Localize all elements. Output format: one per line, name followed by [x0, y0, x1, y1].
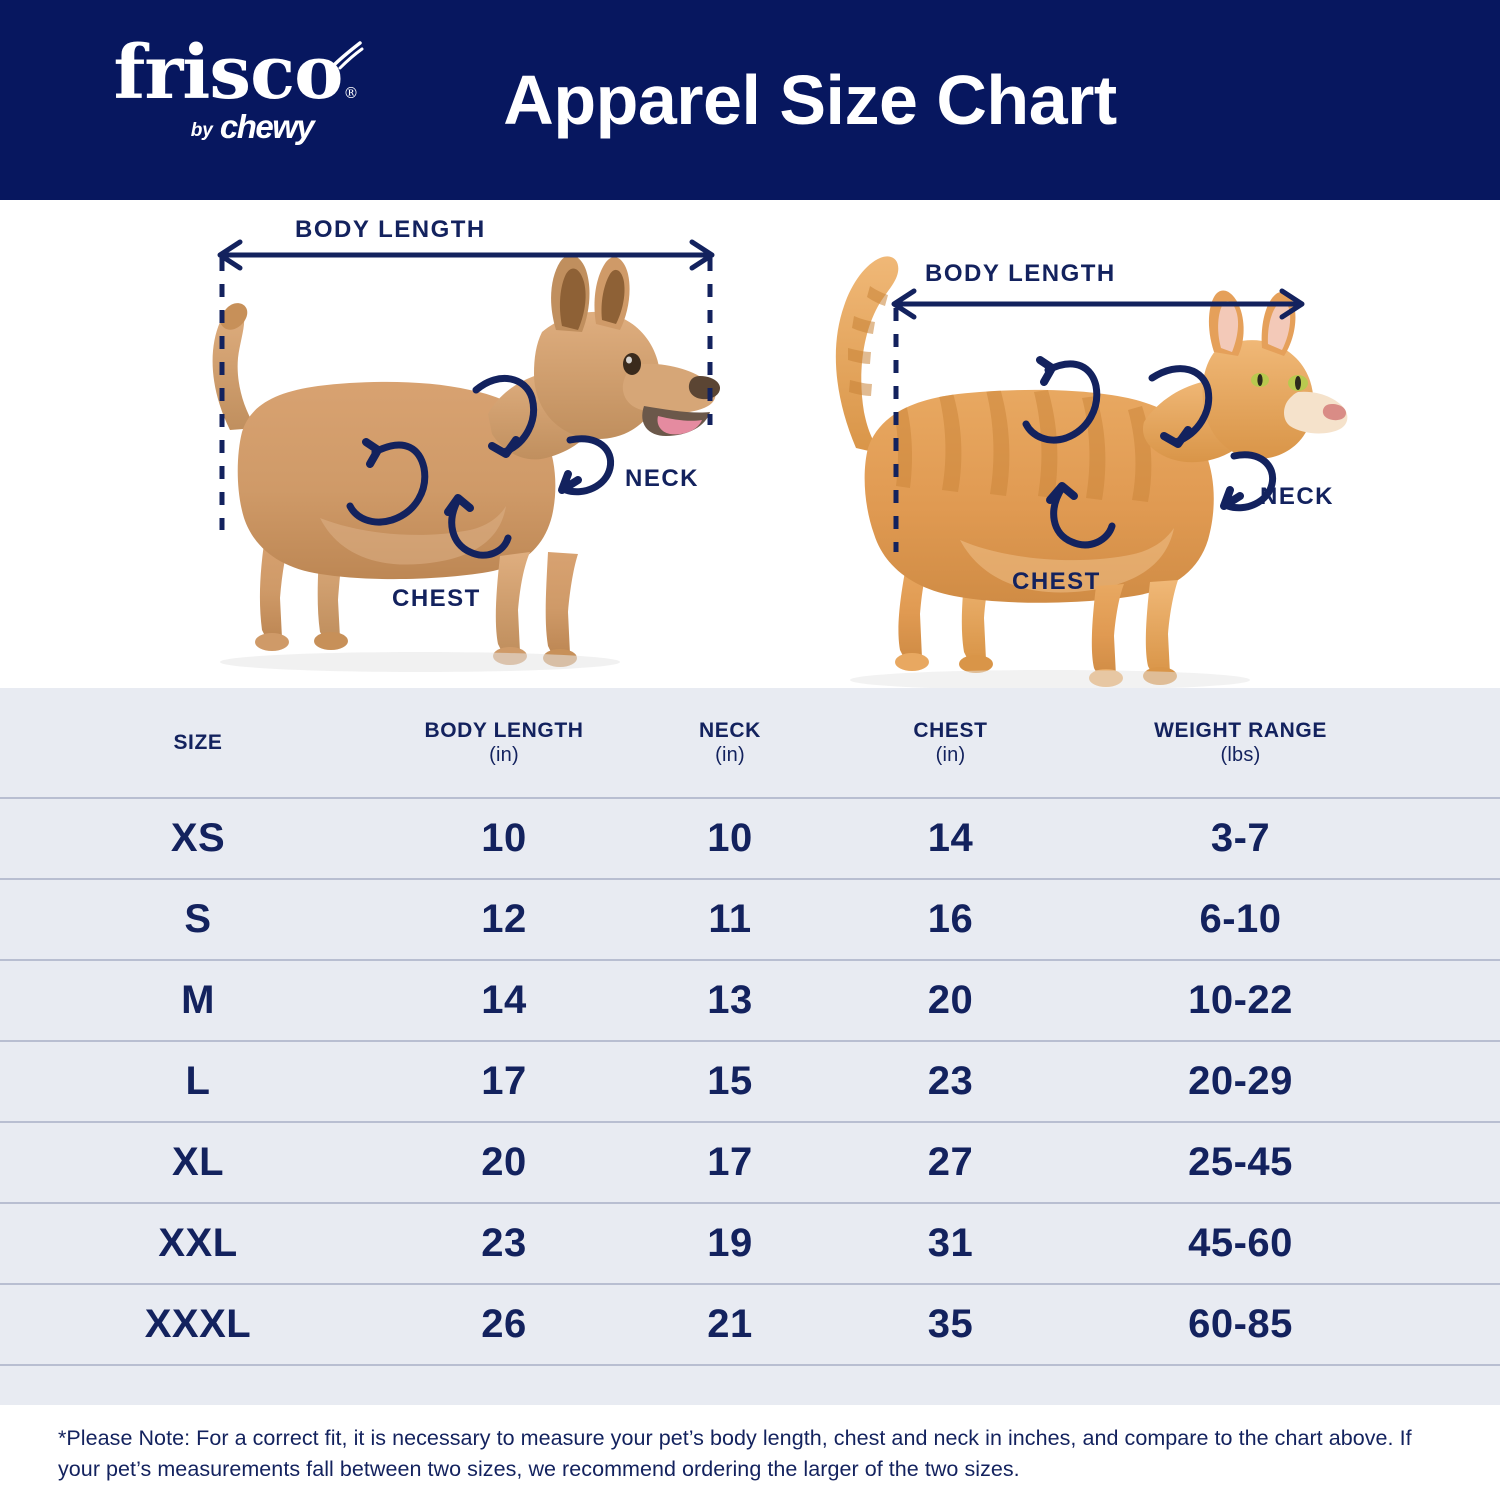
cat-diagram: BODY LENGTH NECK CHEST: [800, 200, 1390, 688]
cell-neck: 17: [610, 1122, 840, 1203]
dog-diagram: BODY LENGTH NECK CHEST: [170, 200, 760, 688]
table-head: SIZE BODY LENGTH (in) NECK (in) CHEST (i…: [0, 688, 1500, 798]
table-header-row: SIZE BODY LENGTH (in) NECK (in) CHEST (i…: [0, 688, 1500, 798]
illustration-band: BODY LENGTH NECK CHEST: [0, 200, 1500, 688]
column-header-neck-label: NECK: [620, 718, 840, 744]
cell-neck: 21: [610, 1284, 840, 1365]
footer-note-section: *Please Note: For a correct fit, it is n…: [0, 1405, 1500, 1500]
column-header-neck-unit: (in): [620, 743, 840, 767]
cell-chest: 31: [840, 1203, 1055, 1284]
cell-chest: 27: [840, 1122, 1055, 1203]
cell-body-length: 20: [380, 1122, 610, 1203]
cell-body-length: 17: [380, 1041, 610, 1122]
cat-chest-label: CHEST: [1012, 568, 1101, 596]
cell-weight: 60-85: [1055, 1284, 1500, 1365]
column-header-weight-range: WEIGHT RANGE (lbs): [1055, 688, 1500, 798]
cat-body-length-label: BODY LENGTH: [925, 260, 1116, 288]
table-row: L 17 15 23 20-29: [0, 1041, 1500, 1122]
cell-chest: 16: [840, 879, 1055, 960]
cell-size: L: [0, 1041, 380, 1122]
size-table-section: SIZE BODY LENGTH (in) NECK (in) CHEST (i…: [0, 688, 1500, 1405]
cell-chest: 35: [840, 1284, 1055, 1365]
cell-weight: 20-29: [1055, 1041, 1500, 1122]
cell-body-length: 12: [380, 879, 610, 960]
dog-illustration: [170, 200, 760, 688]
cell-size: M: [0, 960, 380, 1041]
column-header-neck: NECK (in): [610, 688, 840, 798]
page-header: frisco ® by chewy Apparel Size Chart: [0, 0, 1500, 200]
size-table: SIZE BODY LENGTH (in) NECK (in) CHEST (i…: [0, 688, 1500, 1366]
table-row: M 14 13 20 10-22: [0, 960, 1500, 1041]
column-header-weight-range-unit: (lbs): [1055, 743, 1426, 767]
table-row: XXXL 26 21 35 60-85: [0, 1284, 1500, 1365]
table-row: XS 10 10 14 3-7: [0, 798, 1500, 879]
table-row: S 12 11 16 6-10: [0, 879, 1500, 960]
cell-chest: 20: [840, 960, 1055, 1041]
column-header-weight-range-label: WEIGHT RANGE: [1055, 718, 1426, 744]
cell-size: S: [0, 879, 380, 960]
cell-weight: 25-45: [1055, 1122, 1500, 1203]
cell-neck: 19: [610, 1203, 840, 1284]
table-row: XL 20 17 27 25-45: [0, 1122, 1500, 1203]
column-header-size: SIZE: [0, 688, 380, 798]
page-title: Apparel Size Chart: [0, 0, 1500, 200]
table-body: XS 10 10 14 3-7 S 12 11 16 6-10 M 14 13: [0, 798, 1500, 1365]
column-header-chest-label: CHEST: [846, 718, 1055, 744]
cell-size: XXXL: [0, 1284, 380, 1365]
cell-neck: 15: [610, 1041, 840, 1122]
footer-note: *Please Note: For a correct fit, it is n…: [58, 1423, 1440, 1485]
cell-body-length: 26: [380, 1284, 610, 1365]
cell-weight: 10-22: [1055, 960, 1500, 1041]
cell-size: XXL: [0, 1203, 380, 1284]
cell-neck: 10: [610, 798, 840, 879]
column-header-size-label: SIZE: [16, 730, 380, 756]
dog-body-length-label: BODY LENGTH: [295, 216, 486, 244]
cell-chest: 14: [840, 798, 1055, 879]
apparel-size-chart-page: frisco ® by chewy Apparel Size Chart: [0, 0, 1500, 1500]
cell-weight: 45-60: [1055, 1203, 1500, 1284]
cell-weight: 3-7: [1055, 798, 1500, 879]
dog-neck-label: NECK: [625, 465, 699, 493]
cell-neck: 11: [610, 879, 840, 960]
column-header-body-length-label: BODY LENGTH: [398, 718, 610, 744]
cat-neck-label: NECK: [1260, 483, 1334, 511]
table-row: XXL 23 19 31 45-60: [0, 1203, 1500, 1284]
column-header-chest: CHEST (in): [840, 688, 1055, 798]
cell-size: XS: [0, 798, 380, 879]
column-header-chest-unit: (in): [846, 743, 1055, 767]
cell-body-length: 14: [380, 960, 610, 1041]
dog-chest-label: CHEST: [392, 585, 481, 613]
cell-body-length: 10: [380, 798, 610, 879]
cell-body-length: 23: [380, 1203, 610, 1284]
dog-body-length-arrow: [220, 242, 712, 268]
column-header-body-length-unit: (in): [398, 743, 610, 767]
column-header-body-length: BODY LENGTH (in): [380, 688, 610, 798]
cell-chest: 23: [840, 1041, 1055, 1122]
cell-weight: 6-10: [1055, 879, 1500, 960]
cell-size: XL: [0, 1122, 380, 1203]
cell-neck: 13: [610, 960, 840, 1041]
